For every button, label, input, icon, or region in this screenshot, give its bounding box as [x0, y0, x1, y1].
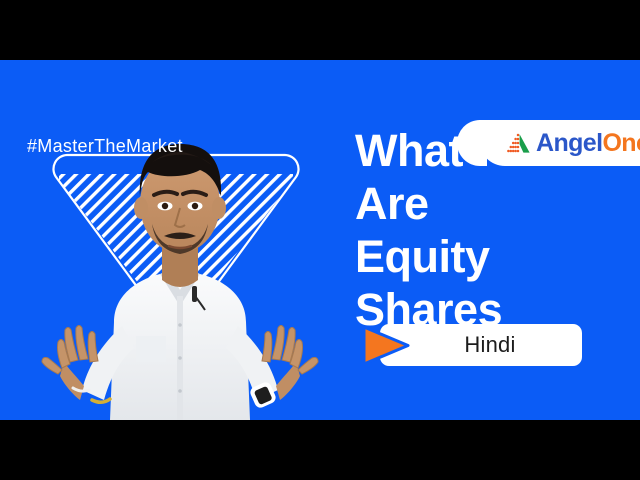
wordmark-angel: Angel	[536, 129, 602, 157]
thumbnail-stage: #MasterTheMarket AngelOne™ What Are E	[0, 60, 640, 420]
title-line-2: Are	[355, 177, 625, 230]
angelone-triangle-icon	[505, 131, 531, 155]
angelone-logo[interactable]: AngelOne™	[479, 120, 640, 166]
title-line-3: Equity	[355, 230, 625, 283]
hashtag-label: #MasterTheMarket	[27, 136, 183, 157]
wordmark-one: One	[602, 129, 640, 157]
letterbox-top	[0, 0, 640, 60]
letterbox-bottom	[0, 420, 640, 480]
angelone-wordmark: AngelOne™	[536, 131, 640, 156]
language-badge[interactable]: Hindi	[360, 324, 582, 366]
play-icon[interactable]	[360, 323, 412, 368]
language-label: Hindi	[446, 332, 515, 358]
video-thumbnail-frame: #MasterTheMarket AngelOne™ What Are E	[0, 0, 640, 480]
